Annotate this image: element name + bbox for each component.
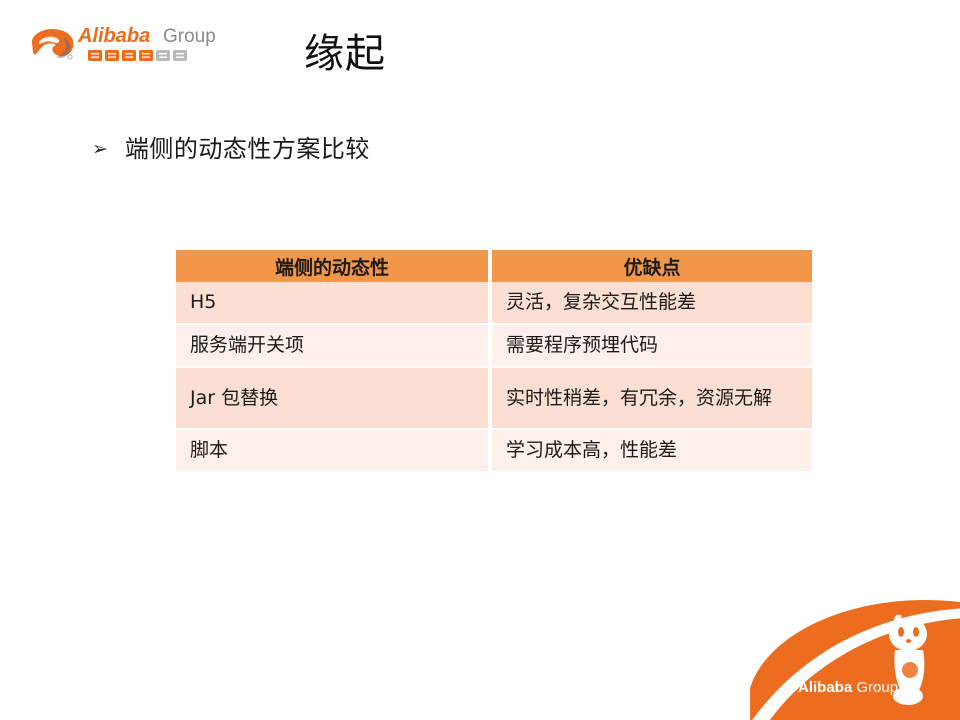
cell-approach-notes: 灵活，复杂交互性能差	[492, 282, 812, 325]
cell-approach-name: Jar 包替换	[176, 368, 492, 430]
orange-blob-shape	[750, 600, 960, 720]
table-row: H5 灵活，复杂交互性能差	[176, 282, 812, 325]
logo-wordmark-suffix: Group	[163, 26, 216, 47]
cell-approach-notes: 需要程序预埋代码	[492, 325, 812, 368]
table-row: 服务端开关项 需要程序预埋代码	[176, 325, 812, 368]
cell-approach-notes: 实时性稍差，有冗余，资源无解	[492, 368, 812, 430]
presentation-slide: Alibaba Group 缘起	[0, 0, 960, 720]
cell-approach-name: 脚本	[176, 430, 492, 471]
mascot-face-details	[898, 627, 919, 678]
table-row: Jar 包替换 实时性稍差，有冗余，资源无解	[176, 368, 812, 430]
cell-approach-notes: 学习成本高，性能差	[492, 430, 812, 471]
column-header-approach: 端侧的动态性	[176, 250, 492, 282]
cell-approach-name: H5	[176, 282, 492, 325]
bullet-label: 端侧的动态性方案比较	[125, 132, 370, 166]
alibaba-group-logo: Alibaba Group	[26, 22, 236, 68]
comparison-table: 端侧的动态性 优缺点 H5 灵活，复杂交互性能差 服务端开关项 需要程序预埋代码…	[176, 250, 812, 471]
cell-approach-name: 服务端开关项	[176, 325, 492, 368]
table-row: 脚本 学习成本高，性能差	[176, 430, 812, 471]
corner-brand-text: Alibaba Group	[798, 679, 898, 696]
ali-doll-mascot-icon	[889, 614, 927, 705]
column-header-prosandcons: 优缺点	[492, 250, 812, 282]
alibaba-swirl-icon	[32, 29, 74, 59]
page-title: 缘起	[240, 28, 450, 80]
white-swoosh-stripe	[750, 608, 960, 720]
bullet-line: ➢ 端侧的动态性方案比较	[92, 132, 370, 166]
logo-chinese-wordmark	[88, 50, 187, 61]
logo-wordmark: Alibaba	[77, 25, 150, 47]
corner-decoration: Alibaba Group	[750, 588, 960, 720]
table-header-row: 端侧的动态性 优缺点	[176, 250, 812, 282]
arrow-bullet-icon: ➢	[92, 140, 108, 159]
